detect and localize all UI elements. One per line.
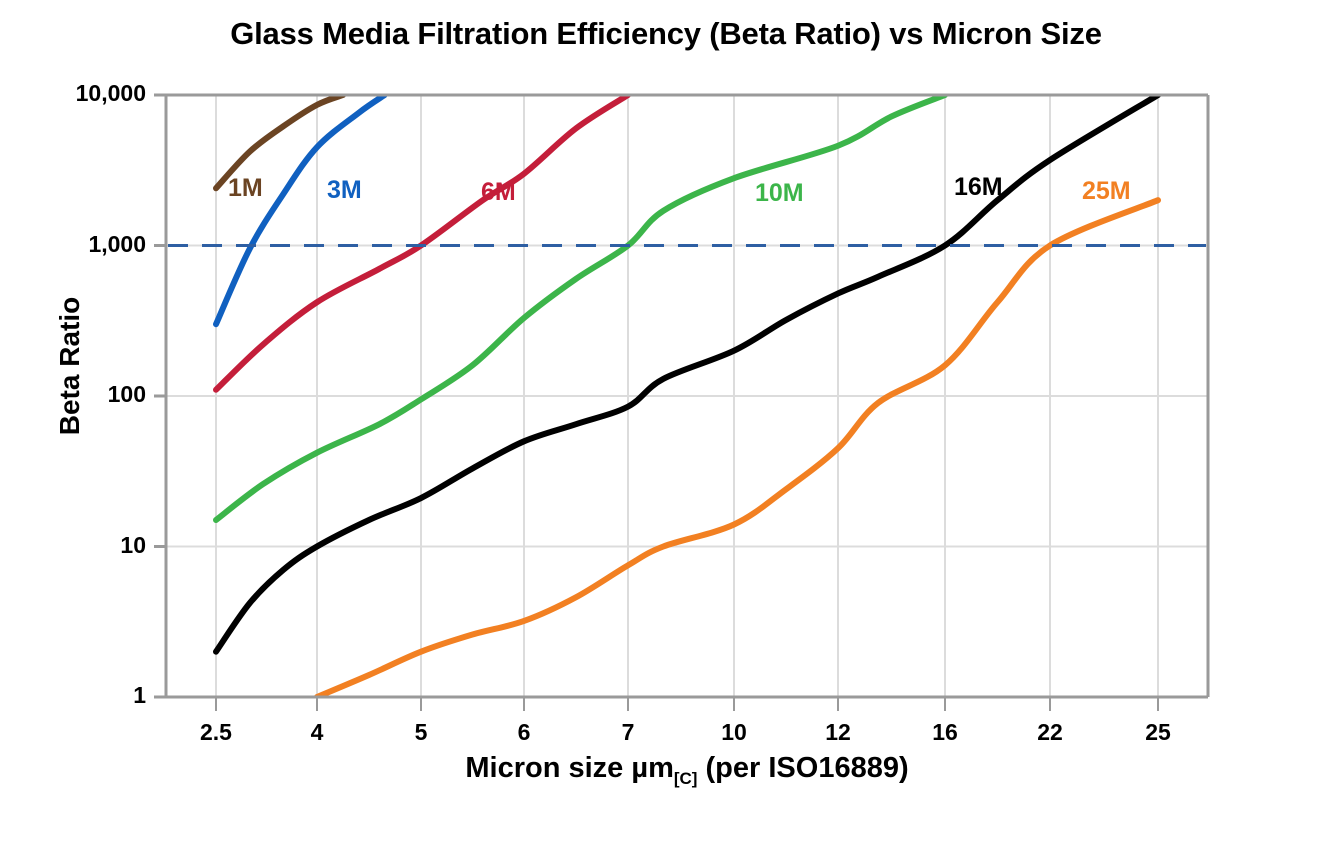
series-label-6m: 6M	[481, 178, 516, 207]
x-tick-label: 7	[583, 719, 673, 746]
series-line-3m	[216, 95, 385, 324]
series-line-25m	[317, 200, 1158, 697]
plot-area	[0, 0, 1332, 842]
series-label-1m: 1M	[228, 174, 263, 203]
series-line-10m	[216, 95, 945, 520]
x-tick-label: 5	[376, 719, 466, 746]
x-axis-title: Micron size µm[C] (per ISO16889)	[166, 752, 1208, 789]
x-axis-title-subscript: [C]	[674, 769, 698, 788]
x-axis-title-tail: (per ISO16889)	[697, 752, 908, 784]
y-tick-label: 10,000	[0, 80, 146, 107]
series-label-16m: 16M	[954, 173, 1003, 202]
series-label-25m: 25M	[1082, 177, 1131, 206]
x-tick-label: 12	[793, 719, 883, 746]
x-tick-label: 16	[900, 719, 990, 746]
y-axis-title: Beta Ratio	[54, 236, 86, 496]
chart-container: Glass Media Filtration Efficiency (Beta …	[0, 0, 1332, 842]
gridlines	[166, 95, 1208, 697]
series-label-3m: 3M	[327, 176, 362, 205]
x-tick-label: 2.5	[171, 719, 261, 746]
x-axis-title-main: Micron size µm	[465, 752, 673, 784]
x-tick-label: 22	[1005, 719, 1095, 746]
x-tick-label: 10	[689, 719, 779, 746]
y-tick-label: 1	[0, 682, 146, 709]
x-tick-label: 4	[272, 719, 362, 746]
series-label-10m: 10M	[755, 179, 804, 208]
x-tick-label: 25	[1113, 719, 1203, 746]
y-tick-label: 10	[0, 532, 146, 559]
axis-ticks	[154, 95, 1158, 711]
x-tick-label: 6	[479, 719, 569, 746]
